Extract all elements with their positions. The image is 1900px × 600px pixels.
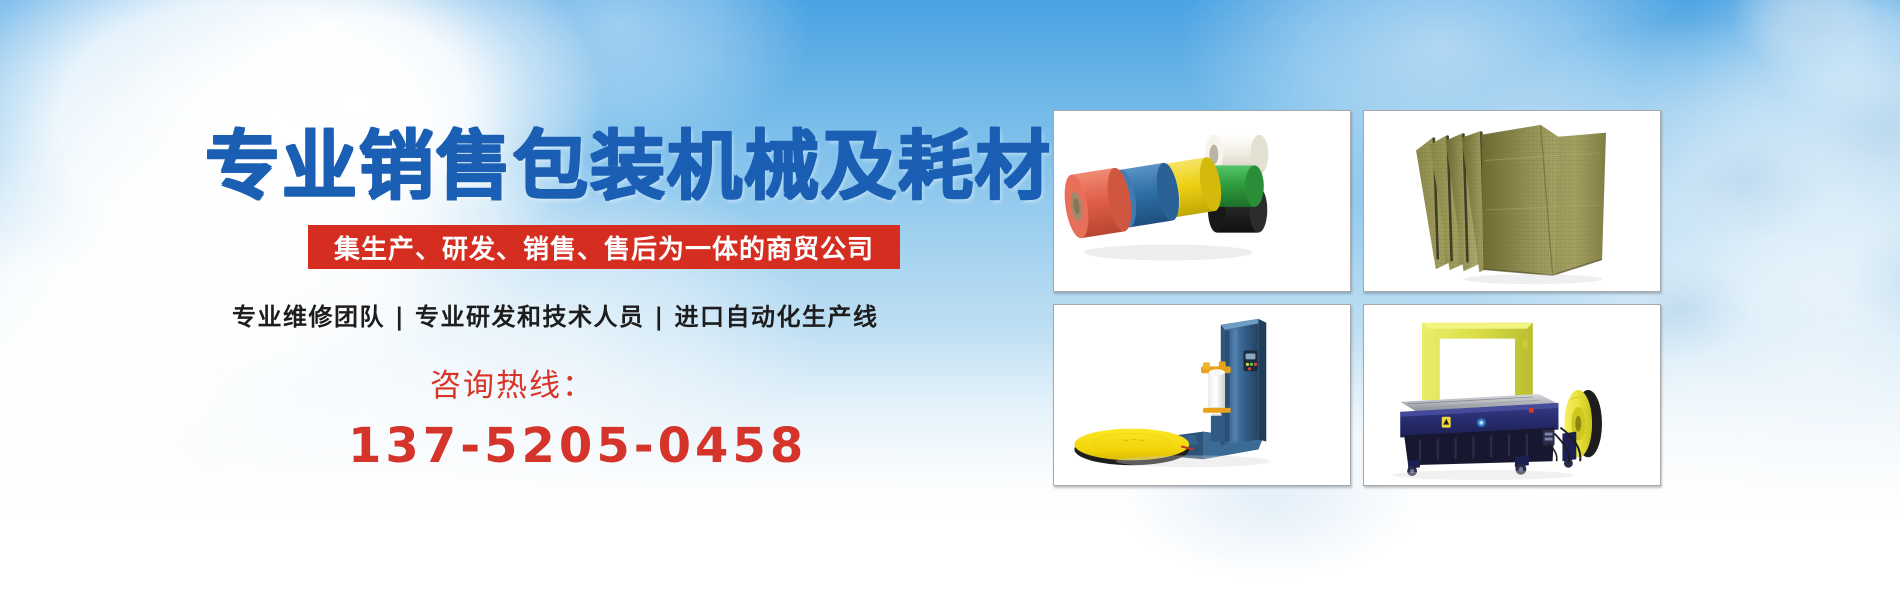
strapping-rolls-icon <box>1054 111 1350 291</box>
tagline-red-banner: 集生产、研发、销售、售后为一体的商贸公司 <box>308 225 900 269</box>
headline-text-block: 专业销售包装机械及耗材 集生产、研发、销售、售后为一体的商贸公司 专业维修团队 … <box>0 0 1040 600</box>
product-tile-strapping-rolls[interactable]: 彩色PP打包带卷 <box>1053 110 1351 292</box>
banner-headline: 专业销售包装机械及耗材 <box>205 105 1052 214</box>
product-image-grid: 彩色PP打包带卷 <box>1053 110 1661 492</box>
woven-sacks-icon <box>1364 111 1660 291</box>
tagline-text: 集生产、研发、销售、售后为一体的商贸公司 <box>334 229 874 266</box>
product-tile-stretch-wrap-machine[interactable]: 缠绕膜包装机 <box>1053 304 1351 486</box>
promo-banner: 专业销售包装机械及耗材 集生产、研发、销售、售后为一体的商贸公司 专业维修团队 … <box>0 0 1900 600</box>
hotline-label: 咨询热线： <box>430 360 595 405</box>
auto-strapping-machine-icon <box>1364 305 1660 485</box>
product-tile-strapping-machine[interactable]: 全自动打包机 <box>1363 304 1661 486</box>
pallet-stretch-wrapper-icon <box>1054 305 1350 485</box>
product-tile-woven-sacks[interactable]: 编织袋 <box>1363 110 1661 292</box>
hotline-phone-number[interactable]: 137-5205-0458 <box>348 418 807 474</box>
feature-subline: 专业维修团队 | 专业研发和技术人员 | 进口自动化生产线 <box>232 297 878 332</box>
